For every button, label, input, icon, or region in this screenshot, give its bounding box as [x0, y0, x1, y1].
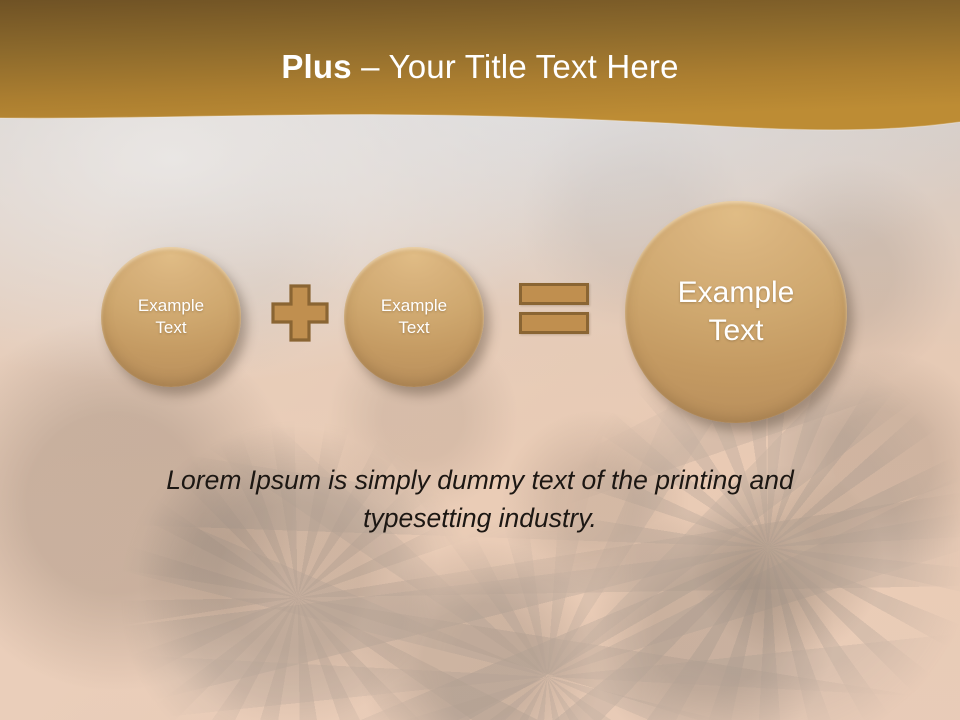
equals-symbol-icon [519, 283, 589, 334]
equals-bar-bottom [519, 312, 589, 334]
operand-2-label-line2: Text [398, 318, 429, 337]
page-title: Plus – Your Title Text Here [0, 48, 960, 86]
body-paragraph: Lorem Ipsum is simply dummy text of the … [120, 462, 840, 537]
equals-bar-top [519, 283, 589, 305]
operand-1-label-line2: Text [155, 318, 186, 337]
slide: Plus – Your Title Text Here Example Text… [0, 0, 960, 720]
title-bold-word: Plus [281, 48, 352, 85]
result-circle[interactable]: Example Text [625, 201, 847, 423]
operand-1-label: Example Text [138, 295, 204, 339]
result-label-line1: Example [678, 276, 795, 309]
result-label: Example Text [678, 274, 795, 351]
operand-1-label-line1: Example [138, 296, 204, 315]
plus-symbol-icon [271, 284, 329, 342]
operand-2-label: Example Text [381, 295, 447, 339]
result-label-line2: Text [708, 314, 763, 347]
operand-2-circle[interactable]: Example Text [344, 247, 484, 387]
title-rest: – Your Title Text Here [352, 48, 679, 85]
operand-1-circle[interactable]: Example Text [101, 247, 241, 387]
operand-2-label-line1: Example [381, 296, 447, 315]
